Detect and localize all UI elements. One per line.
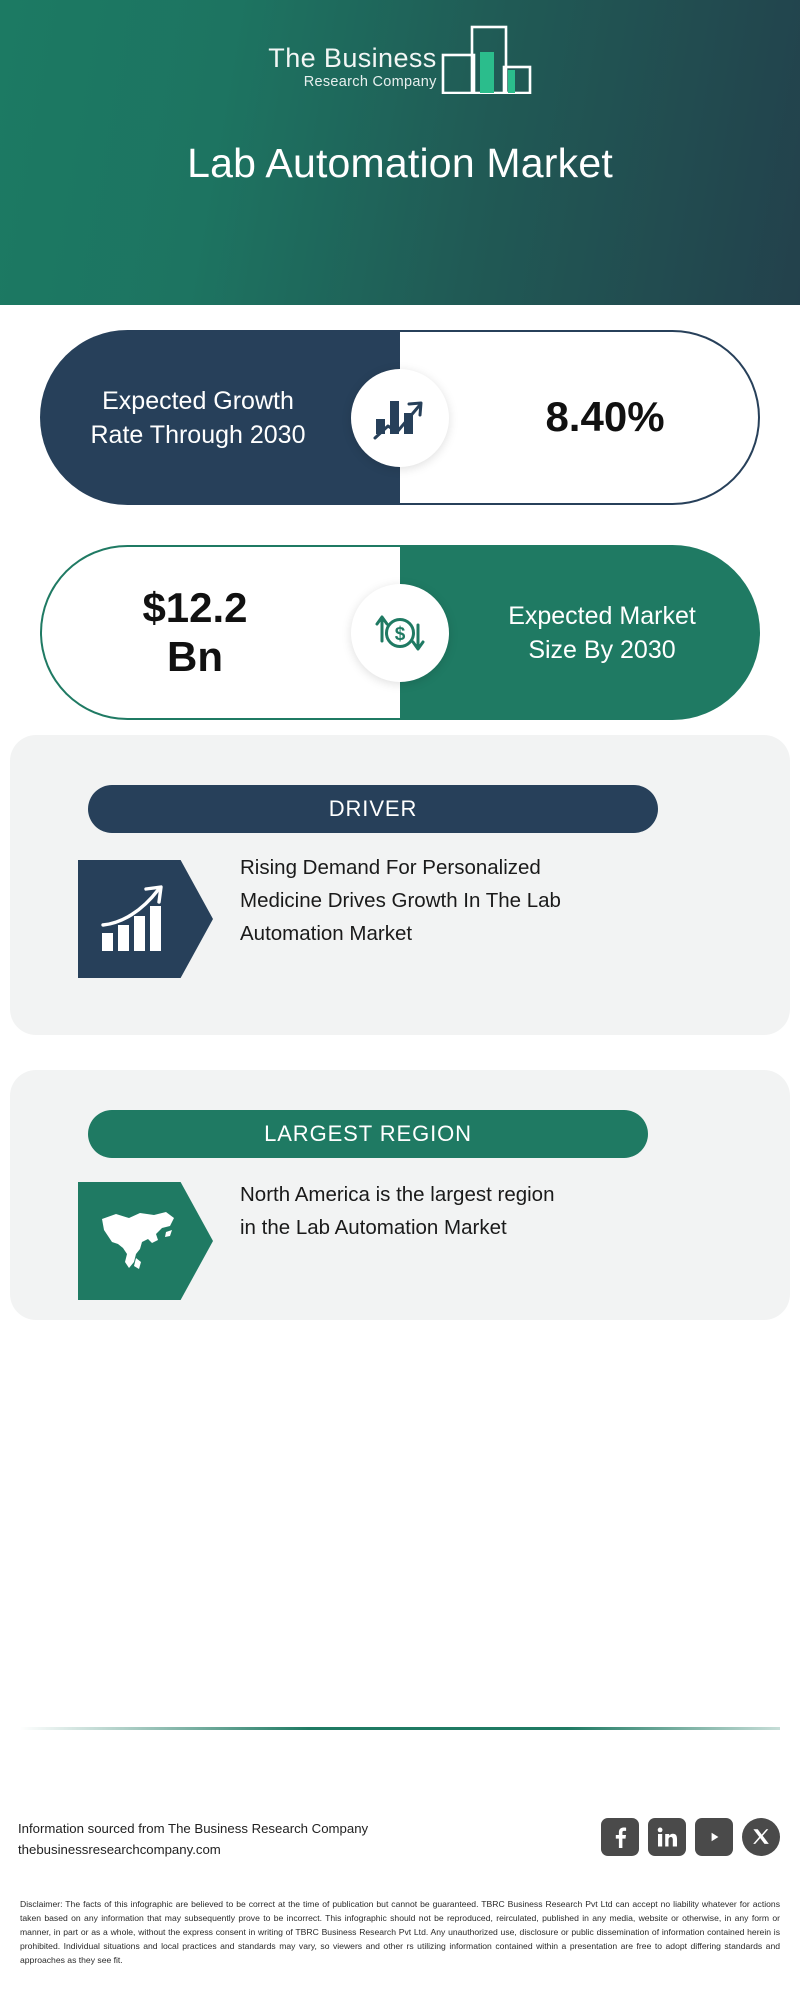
growth-bars-arrow-icon (98, 883, 180, 955)
stat-icon-badge (351, 369, 449, 467)
stat-card-growth-rate: Expected Growth Rate Through 2030 8.40% (40, 330, 760, 505)
region-icon-shape (78, 1182, 213, 1300)
logo-secondary-text: Research Company (268, 73, 436, 93)
stat-label-text: Expected Market Size By 2030 (487, 599, 717, 667)
driver-description: Rising Demand For Personalized Medicine … (240, 851, 570, 951)
pill-region-label: LARGEST REGION (88, 1110, 648, 1158)
facebook-icon[interactable] (601, 1818, 639, 1856)
footer-source: Information sourced from The Business Re… (18, 1818, 368, 1861)
dollar-circulation-icon: $ (372, 605, 428, 661)
stat-value-half: 8.40% (400, 330, 760, 505)
footer-source-line1: Information sourced from The Business Re… (18, 1818, 368, 1839)
bar-chart-logo-mark (440, 24, 532, 94)
stat-card-market-size: $12.2 Bn Expected Market Size By 2030 $ (40, 545, 760, 720)
footer-disclaimer: Disclaimer: The facts of this infographi… (20, 1898, 780, 1968)
header-banner: The Business Research Company Lab Automa… (0, 0, 800, 305)
logo-primary-text: The Business (268, 45, 436, 72)
stat-value-text: 8.40% (545, 393, 664, 441)
panel-driver: DRIVER Rising Demand For Personalized Me… (10, 735, 790, 1035)
stat-label-text: Expected Growth Rate Through 2030 (83, 384, 313, 452)
stat-value-half: $12.2 Bn (40, 545, 400, 720)
linkedin-icon[interactable] (648, 1818, 686, 1856)
svg-text:$: $ (395, 624, 406, 645)
stat-value-line1: $12.2 (142, 584, 247, 632)
footer-source-line2: thebusinessresearchcompany.com (18, 1839, 368, 1860)
pill-driver-label: DRIVER (88, 785, 658, 833)
growth-chart-arrow-icon (372, 393, 428, 443)
x-twitter-icon[interactable] (742, 1818, 780, 1856)
stat-label-half: Expected Market Size By 2030 (400, 545, 760, 720)
region-description: North America is the largest region in t… (240, 1178, 570, 1244)
north-america-map-icon (96, 1206, 182, 1276)
youtube-icon[interactable] (695, 1818, 733, 1856)
stat-value-line2: Bn (142, 633, 247, 681)
logo-text: The Business Research Company (268, 45, 436, 95)
page-title: Lab Automation Market (0, 140, 800, 187)
footer-divider (20, 1727, 780, 1730)
company-logo: The Business Research Company (0, 24, 800, 95)
panel-largest-region: LARGEST REGION North America is the larg… (10, 1070, 790, 1320)
social-links (601, 1818, 780, 1856)
stat-icon-badge: $ (351, 584, 449, 682)
stat-value-text: $12.2 Bn (142, 584, 247, 681)
driver-icon-shape (78, 860, 213, 978)
stat-label-half: Expected Growth Rate Through 2030 (40, 330, 400, 505)
